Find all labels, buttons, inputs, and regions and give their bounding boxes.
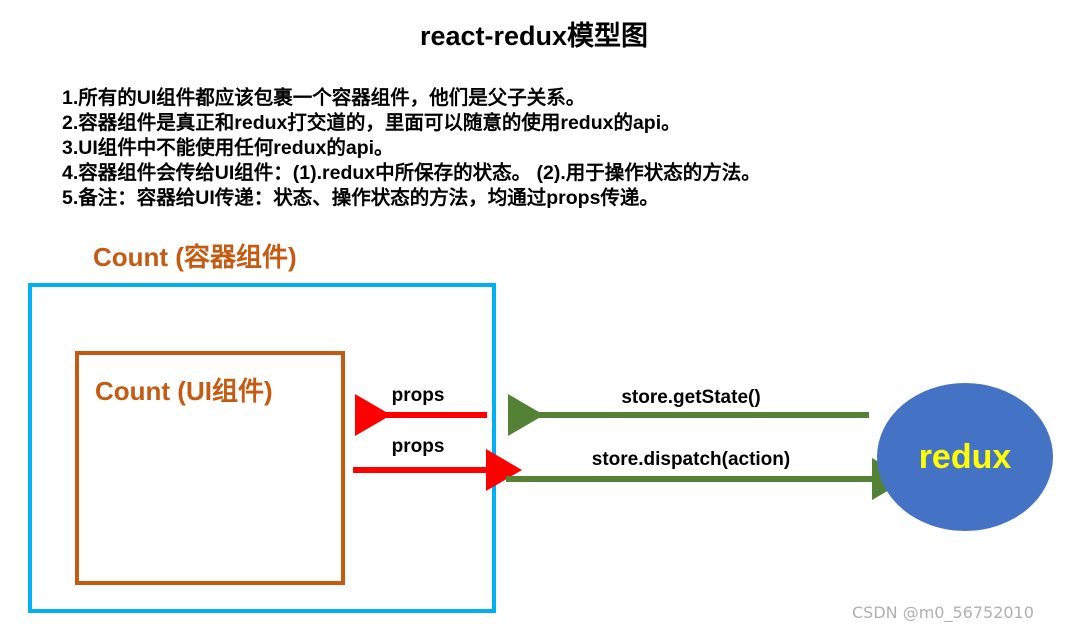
arrow-label-props-to-ui: props: [352, 385, 484, 407]
description-line-5: 5.备注：容器给UI传递：状态、操作状态的方法，均通过props传递。: [62, 186, 1022, 211]
arrow-label-get-state: store.getState(): [520, 387, 862, 409]
description-line-4: 4.容器组件会传给UI组件：(1).redux中所保存的状态。 (2).用于操作…: [62, 161, 1022, 186]
watermark: CSDN @m0_56752010: [852, 603, 1034, 622]
diagram-canvas: react-redux模型图 1.所有的UI组件都应该包裹一个容器组件，他们是父…: [0, 0, 1068, 634]
description-line-1: 1.所有的UI组件都应该包裹一个容器组件，他们是父子关系。: [62, 86, 1022, 111]
redux-store-label: redux: [877, 383, 1053, 531]
description-line-2: 2.容器组件是真正和redux打交道的，里面可以随意的使用redux的api。: [62, 111, 1022, 136]
page-title: react-redux模型图: [0, 14, 1068, 53]
description-list: 1.所有的UI组件都应该包裹一个容器组件，他们是父子关系。 2.容器组件是真正和…: [62, 86, 1022, 211]
description-line-3: 3.UI组件中不能使用任何redux的api。: [62, 136, 1022, 161]
arrow-label-props-from-ui: props: [352, 436, 484, 458]
container-component-heading: Count (容器组件): [93, 237, 297, 274]
ui-component-label: Count (UI组件): [95, 371, 273, 408]
arrow-label-dispatch: store.dispatch(action): [520, 449, 862, 471]
